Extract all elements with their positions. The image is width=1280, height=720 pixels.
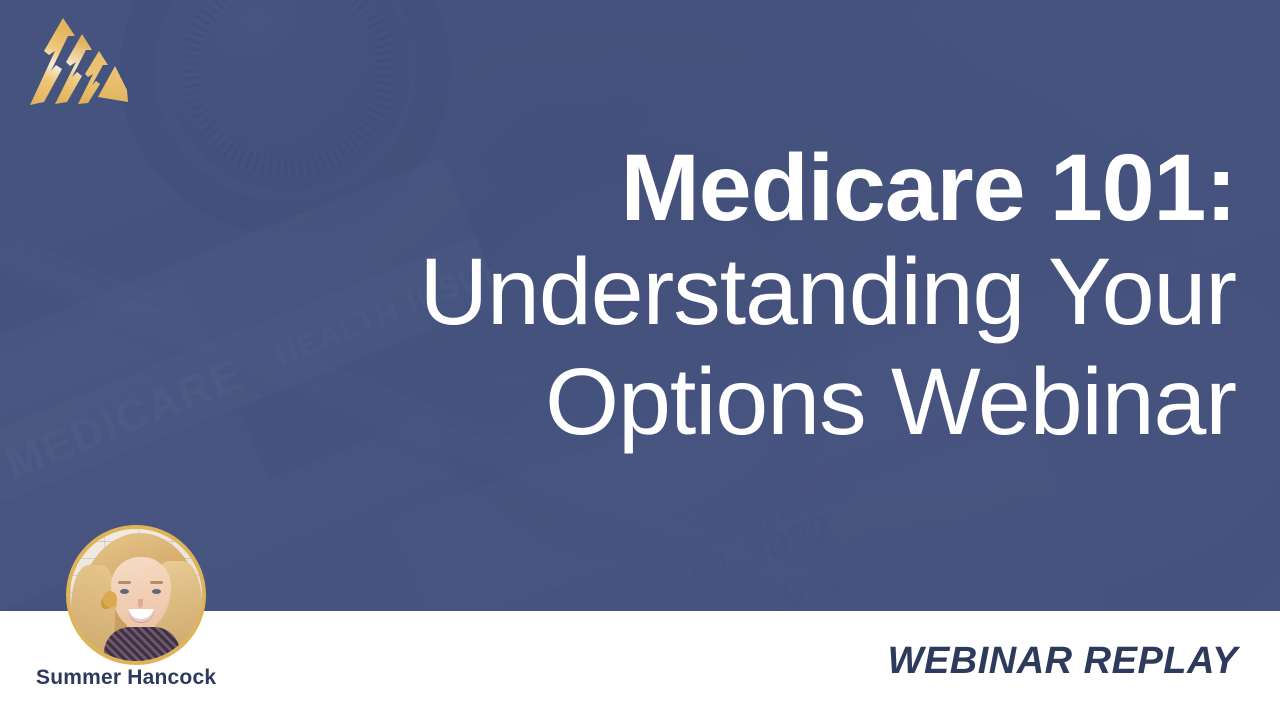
title-line-3: Options Webinar: [136, 347, 1236, 457]
avatar-flower-earring-icon: [103, 591, 117, 607]
logo-arrow-shapes: [30, 18, 128, 105]
brand-logo[interactable]: [22, 14, 132, 109]
avatar-eyebrow-right: [150, 581, 163, 584]
title-line-2: Understanding Your: [136, 237, 1236, 347]
avatar-patterned-top: [104, 627, 180, 665]
avatar-eyebrow-left: [118, 581, 131, 584]
avatar-eye-right: [152, 589, 161, 594]
title-line-1: Medicare 101:: [136, 140, 1236, 237]
webinar-replay-label: WEBINAR REPLAY: [888, 640, 1238, 683]
presenter-name: Summer Hancock: [36, 666, 216, 690]
avatar-eye-left: [120, 589, 129, 594]
avatar-nose: [138, 599, 143, 608]
page-title: Medicare 101: Understanding Your Options…: [136, 140, 1236, 457]
webinar-title-slide: MEDICARE HEALTH INSURANCE Medicare Cover…: [0, 0, 1280, 720]
hero-banner: MEDICARE HEALTH INSURANCE Medicare Cover…: [0, 0, 1280, 611]
avatar: [66, 525, 206, 665]
